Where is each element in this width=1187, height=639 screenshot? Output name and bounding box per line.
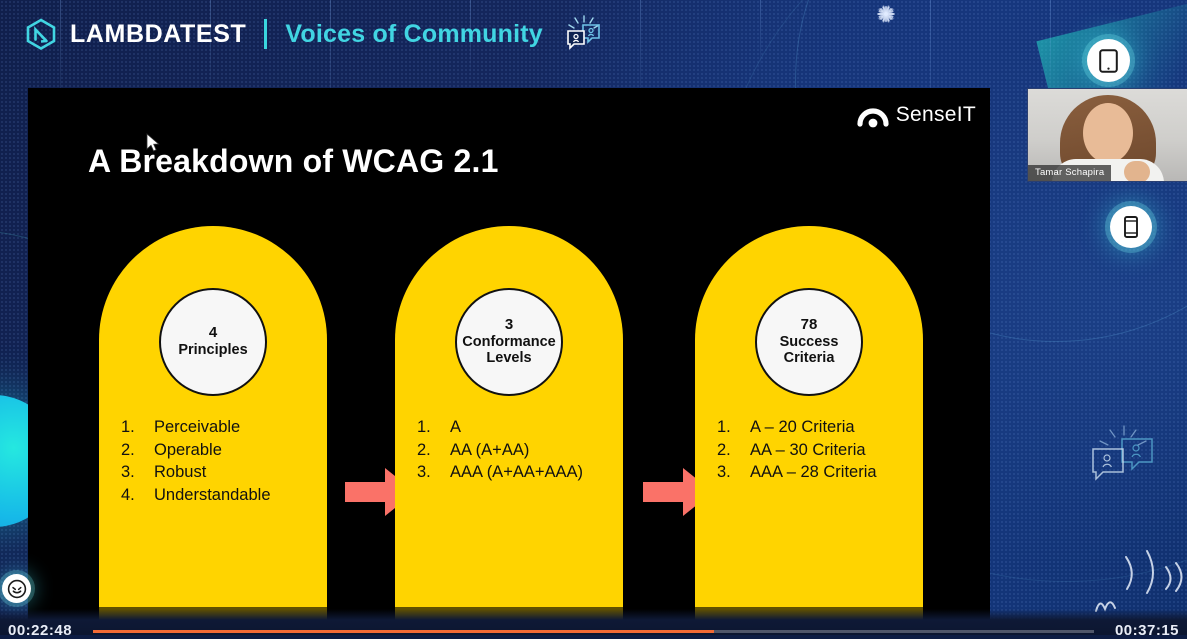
list-index: 2. xyxy=(417,439,450,462)
tablet-device-icon[interactable] xyxy=(1087,39,1130,82)
list-index: 1. xyxy=(417,416,450,439)
list-item: 3.Robust xyxy=(121,461,271,484)
participant-face xyxy=(1083,103,1133,163)
list-index: 1. xyxy=(121,416,154,439)
list-text: Perceivable xyxy=(154,416,240,439)
list-text: Robust xyxy=(154,461,206,484)
pillar-list: 1.A – 20 Criteria 2.AA – 30 Criteria 3.A… xyxy=(717,416,877,484)
mobile-device-icon[interactable] xyxy=(1110,206,1152,248)
pillar-principles: 4 Principles 1.Perceivable 2.Operable 3.… xyxy=(99,226,327,635)
wcag-pillars: 4 Principles 1.Perceivable 2.Operable 3.… xyxy=(28,226,990,635)
list-text: AAA (A+AA+AAA) xyxy=(450,461,583,484)
list-index: 4. xyxy=(121,484,154,507)
list-item: 1.A xyxy=(417,416,583,439)
pillar-badge-principles: 4 Principles xyxy=(159,288,267,396)
list-text: AAA – 28 Criteria xyxy=(750,461,877,484)
brand-name: LAMBDATEST xyxy=(70,20,246,49)
total-time: 00:37:15 xyxy=(1115,622,1179,639)
senseit-label: SenseIT xyxy=(896,103,976,127)
list-item: 3.AAA – 28 Criteria xyxy=(717,461,877,484)
pillar-label-line2: Levels xyxy=(486,350,531,366)
pillar-number: 78 xyxy=(801,317,818,334)
participant-hand xyxy=(1124,161,1150,182)
pillar-conformance-levels: 3 Conformance Levels 1.A 2.AA (A+AA) 3.A… xyxy=(395,226,623,635)
pillar-number: 4 xyxy=(209,325,217,342)
pillar-number: 3 xyxy=(505,317,513,334)
elapsed-time: 00:22:48 xyxy=(8,622,72,639)
pillar-success-criteria: 78 Success Criteria 1.A – 20 Criteria 2.… xyxy=(695,226,923,635)
list-index: 2. xyxy=(121,439,154,462)
mouse-cursor xyxy=(146,133,160,153)
list-text: Understandable xyxy=(154,484,271,507)
brand-lockup: LAMBDATEST Voices of Community xyxy=(24,14,605,54)
list-item: 1.Perceivable xyxy=(121,416,271,439)
list-item: 2.Operable xyxy=(121,439,271,462)
community-chat-icon xyxy=(561,14,605,54)
pillar-label-line2: Criteria xyxy=(784,350,835,366)
list-item: 3.AAA (A+AA+AAA) xyxy=(417,461,583,484)
list-text: AA (A+AA) xyxy=(450,439,529,462)
presentation-slide[interactable]: SenseIT A Breakdown of WCAG 2.1 4 Princi… xyxy=(28,88,990,635)
smiley-reaction-icon[interactable] xyxy=(2,574,31,603)
list-item: 2.AA – 30 Criteria xyxy=(717,439,877,462)
list-text: A xyxy=(450,416,461,439)
app-header: LAMBDATEST Voices of Community xyxy=(0,0,1187,70)
list-text: Operable xyxy=(154,439,222,462)
pillar-badge-success: 78 Success Criteria xyxy=(755,288,863,396)
pillar-list: 1.A 2.AA (A+AA) 3.AAA (A+AA+AAA) xyxy=(417,416,583,484)
list-item: 1.A – 20 Criteria xyxy=(717,416,877,439)
pillar-label: Principles xyxy=(178,342,247,358)
player-controls-bar[interactable]: 00:22:48 00:37:15 xyxy=(0,609,1187,635)
seek-bar[interactable] xyxy=(93,630,1094,633)
pillar-label-line1: Success xyxy=(780,334,839,350)
pillar-list: 1.Perceivable 2.Operable 3.Robust 4.Unde… xyxy=(121,416,271,506)
list-index: 3. xyxy=(121,461,154,484)
list-text: AA – 30 Criteria xyxy=(750,439,866,462)
senseit-watermark: SenseIT xyxy=(857,102,976,128)
participant-name-label: Tamar Schapira xyxy=(1028,165,1111,181)
list-index: 3. xyxy=(417,461,450,484)
lambdatest-logo-icon xyxy=(24,17,58,51)
show-title: Voices of Community xyxy=(285,20,543,49)
list-item: 4.Understandable xyxy=(121,484,271,507)
senseit-arc-icon xyxy=(857,102,889,128)
community-chat-deco-icon xyxy=(1086,425,1158,487)
list-text: A – 20 Criteria xyxy=(750,416,855,439)
brand-divider xyxy=(264,19,267,49)
list-index: 1. xyxy=(717,416,750,439)
list-item: 2.AA (A+AA) xyxy=(417,439,583,462)
participant-video-tile[interactable]: Tamar Schapira xyxy=(1027,88,1187,182)
list-index: 3. xyxy=(717,461,750,484)
pillar-badge-conformance: 3 Conformance Levels xyxy=(455,288,563,396)
list-index: 2. xyxy=(717,439,750,462)
seek-progress-fill xyxy=(93,630,714,633)
pillar-label-line1: Conformance xyxy=(462,334,555,350)
